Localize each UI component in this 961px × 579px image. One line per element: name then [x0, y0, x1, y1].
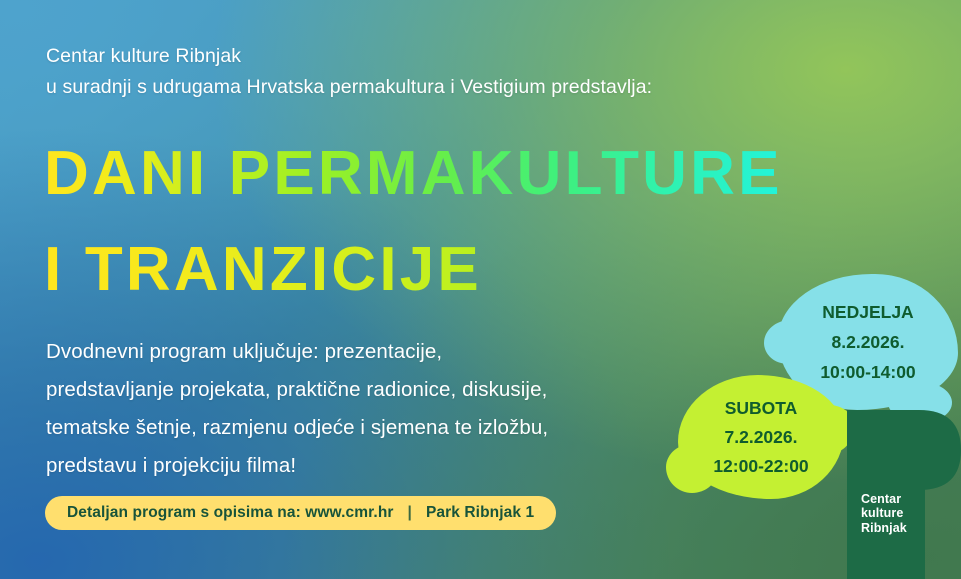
venue-address: Park Ribnjak 1	[426, 504, 534, 522]
date-badge-sunday-time: 10:00-14:00	[820, 357, 915, 387]
date-badge-saturday-date: 7.2.2026.	[725, 423, 798, 452]
program-description: Dvodnevni program uključuje: prezentacij…	[46, 333, 696, 485]
logo-wordmark-line-1: Centar	[861, 492, 907, 507]
date-badge-saturday-day: SUBOTA	[725, 394, 798, 423]
program-description-line-4: predstavu i projekciju filma!	[46, 447, 696, 485]
program-description-line-3: tematske šetnje, razmjenu odjeće i sjeme…	[46, 409, 696, 447]
logo-wordmark-line-3: Ribnjak	[861, 521, 907, 536]
logo-wordmark-line-2: kulture	[861, 506, 907, 521]
program-website-note[interactable]: Detaljan program s opisima na: www.cmr.h…	[67, 504, 394, 522]
centar-kulture-ribnjak-logo: Centar kulture Ribnjak	[847, 410, 961, 579]
event-poster: Centar kulture Ribnjak u suradnji s udru…	[0, 0, 961, 579]
date-badge-saturday-time: 12:00-22:00	[713, 452, 808, 481]
organizer-partners: u suradnji s udrugama Hrvatska permakult…	[46, 72, 906, 103]
title-line-1: DANI PERMAKULTURE	[44, 126, 949, 222]
program-info-pill[interactable]: Detaljan program s opisima na: www.cmr.h…	[45, 496, 556, 530]
pill-separator: |	[408, 504, 412, 522]
date-badge-sunday-date: 8.2.2026.	[832, 327, 905, 357]
organizer-kicker: Centar kulture Ribnjak u suradnji s udru…	[46, 41, 906, 103]
logo-wordmark: Centar kulture Ribnjak	[861, 492, 907, 536]
program-description-line-2: predstavljanje projekata, praktične radi…	[46, 371, 696, 409]
organizer-name: Centar kulture Ribnjak	[46, 41, 906, 72]
date-badge-sunday-day: NEDJELJA	[822, 297, 913, 327]
date-badge-saturday: SUBOTA 7.2.2026. 12:00-22:00	[678, 375, 844, 499]
program-description-line-1: Dvodnevni program uključuje: prezentacij…	[46, 333, 696, 371]
